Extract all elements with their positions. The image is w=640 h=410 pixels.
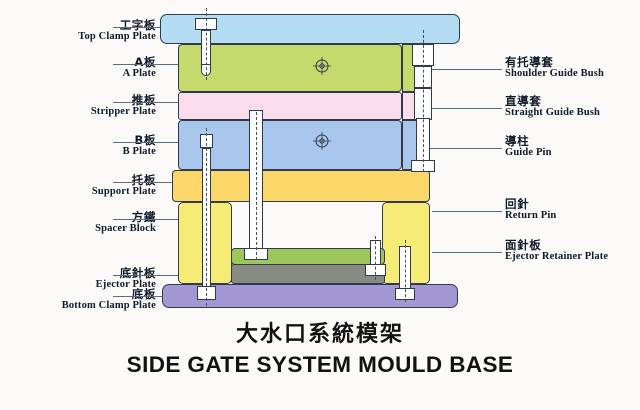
label-spacer-block: 方鐵 Spacer Block [95, 212, 156, 235]
leader-spacer-block [113, 219, 179, 220]
label-shoulder-guide-bush: 有托導套 Shoulder Guide Bush [505, 57, 604, 80]
leader-b-plate [113, 142, 179, 143]
target-symbol-b-plate [313, 132, 331, 150]
return-pin-centerline [405, 240, 406, 302]
label-en: Support Plate [92, 187, 156, 198]
leader-a-plate [113, 64, 179, 65]
leader-ejector-retainer-plate [432, 252, 502, 253]
ejector-plate [231, 264, 385, 284]
title-english: SIDE GATE SYSTEM MOULD BASE [0, 352, 640, 378]
title-chinese: 大水口系統模架 [0, 316, 640, 348]
label-b-plate: B板 B Plate [123, 135, 156, 158]
label-straight-guide-bush: 直導套 Straight Guide Bush [505, 96, 600, 119]
label-stripper-plate: 推板 Stripper Plate [91, 95, 156, 118]
label-top-clamp-plate: 工字板 Top Clamp Plate [78, 20, 156, 43]
target-symbol-a-plate [313, 57, 331, 75]
ejector-pin-centerline [206, 128, 207, 306]
support-pillar-centerline [256, 112, 257, 260]
guide-pin-centerline [423, 30, 424, 172]
diagram-title: 大水口系統模架 SIDE GATE SYSTEM MOULD BASE [0, 316, 640, 378]
a-plate [178, 44, 402, 92]
label-support-plate: 托板 Support Plate [92, 175, 156, 198]
label-en: Return Pin [505, 211, 556, 222]
label-en: Stripper Plate [91, 107, 156, 118]
stripper-plate [178, 92, 402, 120]
label-bottom-clamp-plate: 底板 Bottom Clamp Plate [62, 289, 156, 312]
leader-straight-guide-bush [424, 108, 502, 109]
leader-stripper-plate [113, 102, 179, 103]
leader-return-pin [432, 211, 502, 212]
label-a-plate: A板 A Plate [123, 57, 156, 80]
label-en: B Plate [123, 147, 156, 158]
label-en: Straight Guide Bush [505, 108, 600, 119]
label-ejector-retainer-plate: 面針板 Ejector Retainer Plate [505, 240, 608, 263]
leader-support-plate [113, 182, 179, 183]
leader-shoulder-guide-bush [424, 69, 502, 70]
mould-base-diagram: 工字板 Top Clamp Plate A板 A Plate 推板 Stripp… [0, 0, 640, 410]
label-en: Spacer Block [95, 224, 156, 235]
label-en: A Plate [123, 69, 156, 80]
label-en: Ejector Retainer Plate [505, 252, 608, 263]
top-clamp-screw-centerline [206, 8, 207, 80]
label-guide-pin: 導柱 Guide Pin [505, 136, 552, 159]
ejector-retainer-pin-centerline [375, 236, 376, 280]
label-en: Top Clamp Plate [78, 32, 156, 43]
label-en: Bottom Clamp Plate [62, 301, 156, 312]
label-en: Guide Pin [505, 148, 552, 159]
label-return-pin: 回針 Return Pin [505, 199, 556, 222]
label-en: Shoulder Guide Bush [505, 69, 604, 80]
